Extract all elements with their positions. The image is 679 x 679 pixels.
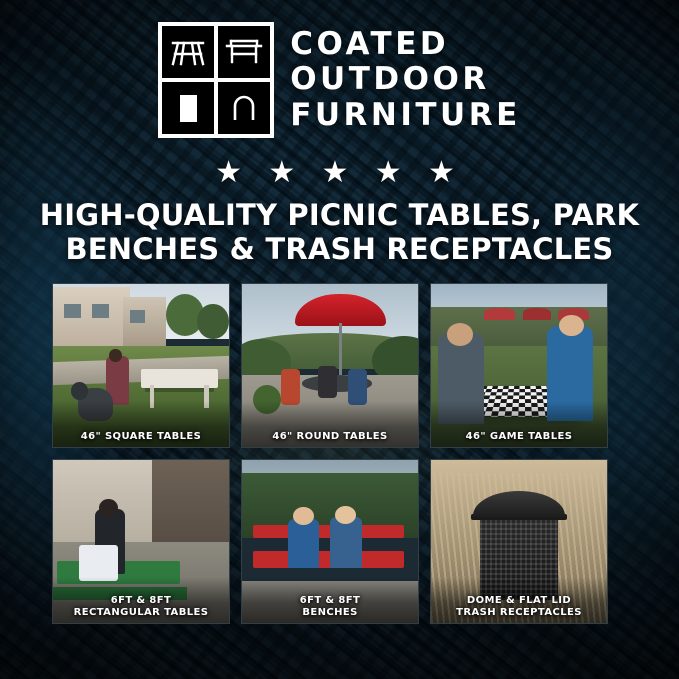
- logo-icon-grid: [158, 22, 274, 138]
- product-caption: 46" GAME TABLES: [431, 431, 607, 443]
- trash-receptacle-icon: [162, 82, 214, 134]
- product-caption: DOME & FLAT LID TRASH RECEPTACLES: [431, 595, 607, 619]
- product-tile-square-tables[interactable]: 46" SQUARE TABLES: [52, 283, 230, 448]
- product-caption: 46" ROUND TABLES: [242, 431, 418, 443]
- park-bench-icon: [218, 26, 270, 78]
- product-banner-image: COATED OUTDOOR FURNITURE ★ ★ ★ ★ ★ HIGH-…: [0, 0, 679, 679]
- brand-word-3: FURNITURE: [290, 99, 521, 132]
- caption-line-1: 46" SQUARE TABLES: [81, 431, 202, 442]
- star-rating: ★ ★ ★ ★ ★: [0, 158, 679, 188]
- caption-line-2: TRASH RECEPTACLES: [456, 607, 582, 618]
- arch-trash-can-icon: [218, 82, 270, 134]
- product-tile-round-tables[interactable]: 46" ROUND TABLES: [241, 283, 419, 448]
- brand-word-2: OUTDOOR: [290, 63, 521, 96]
- product-caption: 6FT & 8FT RECTANGULAR TABLES: [53, 595, 229, 619]
- product-tile-benches[interactable]: 6FT & 8FT BENCHES: [241, 459, 419, 624]
- caption-line-1: DOME & FLAT LID: [467, 595, 571, 606]
- headline-line-1: HIGH-QUALITY PICNIC TABLES, PARK: [40, 198, 639, 232]
- product-tile-rectangular-tables[interactable]: 6FT & 8FT RECTANGULAR TABLES: [52, 459, 230, 624]
- caption-line-2: BENCHES: [302, 607, 357, 618]
- headline-line-2: BENCHES & TRASH RECEPTACLES: [24, 232, 655, 266]
- caption-line-2: RECTANGULAR TABLES: [74, 607, 209, 618]
- caption-line-1: 46" GAME TABLES: [466, 431, 573, 442]
- picnic-table-icon: [162, 26, 214, 78]
- brand-logo: COATED OUTDOOR FURNITURE: [0, 22, 679, 138]
- product-grid: 46" SQUARE TABLES: [52, 283, 628, 624]
- product-caption: 46" SQUARE TABLES: [53, 431, 229, 443]
- product-tile-trash-receptacles[interactable]: DOME & FLAT LID TRASH RECEPTACLES: [430, 459, 608, 624]
- caption-line-1: 46" ROUND TABLES: [272, 431, 387, 442]
- caption-line-1: 6FT & 8FT: [300, 595, 361, 606]
- brand-wordmark: COATED OUTDOOR FURNITURE: [290, 28, 521, 132]
- headline: HIGH-QUALITY PICNIC TABLES, PARK BENCHES…: [0, 198, 679, 266]
- product-caption: 6FT & 8FT BENCHES: [242, 595, 418, 619]
- caption-line-1: 6FT & 8FT: [111, 595, 172, 606]
- product-tile-game-tables[interactable]: 46" GAME TABLES: [430, 283, 608, 448]
- brand-word-1: COATED: [290, 28, 521, 61]
